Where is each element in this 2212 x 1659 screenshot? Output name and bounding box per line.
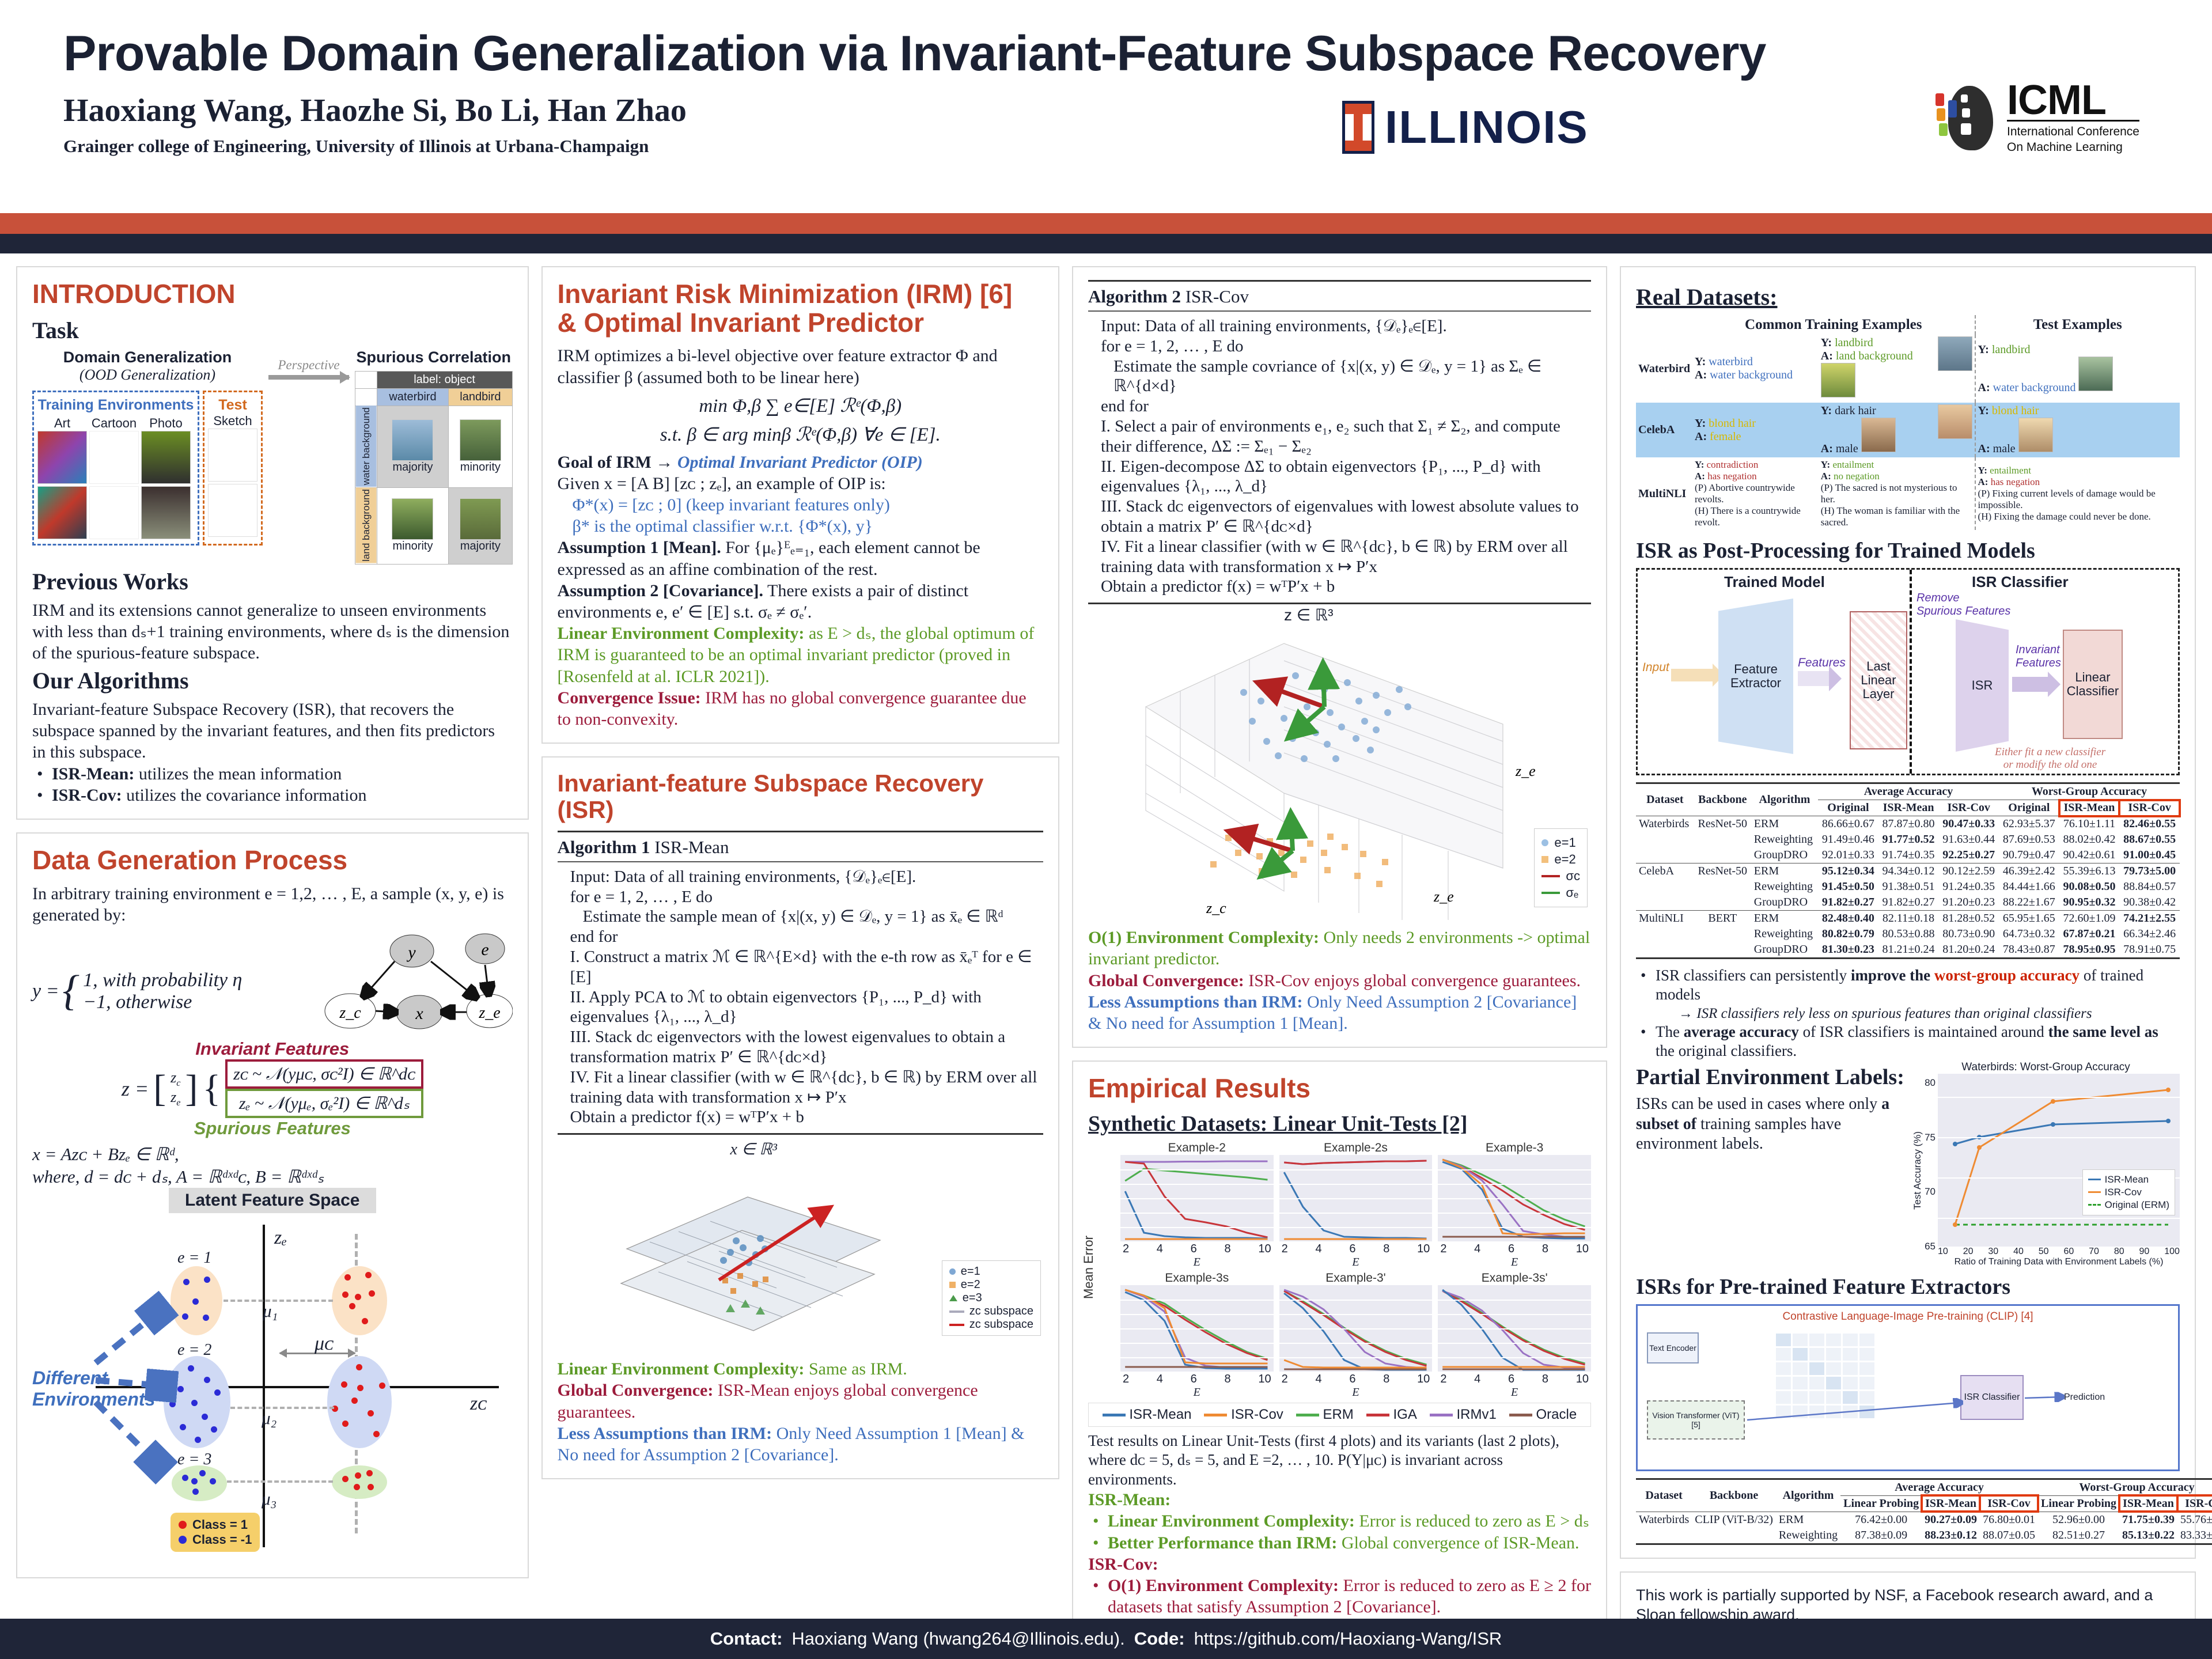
clip-th-dataset: Dataset [1636, 1479, 1692, 1512]
algo2-line-0: Input: Data of all training environments… [1088, 316, 1591, 336]
plot-example3sp [1438, 1285, 1591, 1372]
our-algorithms-text: Invariant-feature Subspace Recovery (ISR… [32, 699, 513, 763]
isr-mean-b2-bold: Better Performance than IRM: [1108, 1533, 1337, 1552]
table-row: Reweighting 91.49±0.46 91.77±0.52 91.63±… [1636, 832, 2180, 847]
pe-legend-isr-cov: ISR-Cov [2105, 1187, 2142, 1198]
invariant-features-label: Invariant Features [32, 1039, 513, 1059]
algo1-line-8: Obtain a predictor f(x) = wᵀP′x + b [558, 1107, 1043, 1127]
pe-legend-original: Original (ERM) [2105, 1199, 2169, 1211]
clip-cell-val: 88.07±0.05 [1980, 1528, 2038, 1544]
clip-th-mean-wg: ISR-Mean [2119, 1495, 2177, 1512]
isr-mean-bullets: Linear Environment Complexity: Error is … [1088, 1510, 1591, 1553]
spur-col-waterbird: waterbird [377, 388, 449, 406]
ood-generalization-label: (OOD Generalization) [32, 366, 263, 384]
orange-divider [0, 213, 2212, 234]
icml-subtitle-line1: International Conference [2007, 124, 2139, 139]
remove-spurious-label: Remove Spurious Features [1916, 592, 2010, 618]
algo1-line-7: IV. Fit a linear classifier (with w ∈ ℝ^… [558, 1067, 1043, 1108]
illinois-block-i-icon [1342, 101, 1374, 154]
cell-dataset: CelebA [1636, 863, 1694, 880]
unit-test-panel: Example-3' [1279, 1271, 1433, 1399]
clip-cell-val: 87.38±0.09 [1840, 1528, 1922, 1544]
cluster-e1-positive [332, 1266, 387, 1335]
features-arrow-icon [1798, 671, 1830, 686]
cell-val: 88.67±0.55 [2119, 832, 2180, 847]
navy-divider [0, 234, 2212, 253]
real-datasets-card: Real Datasets: Common Training Examples … [1620, 266, 2196, 1559]
cell-val: 91.77±0.52 [1878, 832, 1939, 847]
legend-irmv1: IRMv1 [1457, 1407, 1497, 1422]
list-item: ISR classifiers can persistently improve… [1636, 966, 2180, 1022]
legend-erm: ERM [1323, 1407, 1353, 1422]
empirical-heading: Empirical Results [1088, 1074, 1591, 1103]
column-1: INTRODUCTION Task Domain Generalization … [16, 266, 529, 1624]
pe-legend-isr-mean: ISR-Mean [2105, 1174, 2149, 1185]
partial-env-legend: ISR-Mean ISR-Cov Original (ERM) [2082, 1169, 2175, 1215]
algo2-line-2: Estimate the sample covriance of {x|(x, … [1088, 357, 1591, 397]
cell-val: 78.95±0.95 [2059, 942, 2120, 959]
cell-dataset: MultiNLI [1636, 911, 1694, 927]
cell-alg: GroupDRO [1751, 847, 1818, 863]
cell-alg: GroupDRO [1751, 895, 1818, 911]
post-processing-diagram: Trained Model ISR Classifier Input Featu… [1636, 568, 2180, 775]
cell-val: 91.38±0.51 [1878, 879, 1939, 895]
isr-cov-card: Algorithm 2 ISR-Cov Input: Data of all t… [1072, 266, 1607, 1048]
poster-footer: Contact: Haoxiang Wang (hwang264@Illinoi… [0, 1619, 2212, 1659]
algo2-label: Algorithm 2 [1088, 286, 1181, 306]
svg-text:y: y [406, 943, 416, 962]
illinois-logo: ILLINOIS [1342, 101, 1589, 154]
results-table: Dataset Backbone Algorithm Average Accur… [1636, 782, 2180, 959]
legend3d-sigma-c: σᴄ [1566, 869, 1580, 884]
dgp-heading: Data Generation Process [32, 846, 513, 875]
cell-dataset: Waterbirds [1636, 816, 1694, 832]
isr-heading: Invariant-feature Subspace Recovery (ISR… [558, 770, 1043, 823]
cell-val: 46.39±2.42 [1999, 863, 2059, 880]
author-list: Haoxiang Wang, Haozhe Si, Bo Li, Han Zha… [63, 92, 2166, 129]
unit-test-panel: Example-3s' [1438, 1271, 1591, 1399]
table-row: MultiNLI BERT ERM 82.48±0.40 82.11±0.18 … [1636, 911, 2180, 927]
clip-th-backbone: Backbone [1692, 1479, 1776, 1512]
clip-cell-val: 76.42±0.00 [1840, 1512, 1922, 1528]
thumbnail-cartoon-1 [89, 431, 139, 484]
table-row: Reweighting 87.38±0.09 88.23±0.12 88.07±… [1636, 1528, 2212, 1544]
content-grid: INTRODUCTION Task Domain Generalization … [0, 253, 2212, 1624]
dataset-name-waterbird: Waterbird [1636, 335, 1692, 403]
pe-ytick-75: 75 [1925, 1132, 1935, 1143]
clip-th-algorithm: Algorithm [1776, 1479, 1840, 1512]
list-item: The average accuracy of ISR classifiers … [1636, 1022, 2180, 1061]
xticks-example3: 246810 [1438, 1241, 1591, 1256]
algo1-line-1: for e = 1, 2, … , E do [558, 887, 1043, 907]
clip-cell-val: 88.23±0.12 [1922, 1528, 1980, 1544]
cell-val: 84.44±1.66 [1999, 879, 2059, 895]
perspective-arrow-icon [268, 375, 349, 380]
finding2-bold2: the same level as [2048, 1023, 2158, 1040]
axis-y-label: zₑ [274, 1227, 287, 1249]
spur-top-header: label: object [377, 371, 512, 388]
linear-classifier-box: Linear Classifier [2063, 630, 2123, 739]
isr-mean-b2-text: Global convergence of ISR-Mean. [1337, 1533, 1579, 1552]
icml-mark-icon [1935, 83, 1999, 152]
contact-label: Contact: [710, 1628, 783, 1649]
thumbnail-art-1 [37, 431, 87, 484]
irm-constraint: s.t. β ∈ arg minβ ℛᵉ(Φ,β) ∀e ∈ [E]. [558, 423, 1043, 446]
clip-cell-val: 71.75±0.39 [2119, 1512, 2177, 1528]
task-figure: Domain Generalization (OOD Generalizatio… [32, 349, 513, 565]
clip-th-lp-wg: Linear Probing [2038, 1495, 2119, 1512]
isr-lec-bold: Linear Environment Complexity: [558, 1359, 805, 1378]
y-case-2: −1, otherwise [83, 991, 242, 1013]
cell-val: 88.02±0.42 [2059, 832, 2120, 847]
isr-fig-label: x ∈ ℝ³ [730, 1139, 777, 1159]
cell-alg: ERM [1751, 911, 1818, 927]
bullet-bold-isr-cov: ISR-Cov: [52, 786, 122, 805]
algo2-name: ISR-Cov [1181, 286, 1249, 306]
spur-row-water: water background [355, 406, 377, 487]
poster-header: Provable Domain Generalization via Invar… [0, 0, 2212, 213]
th-wg-acc: Worst-Group Accuracy [1999, 783, 2180, 800]
our-algorithms-heading: Our Algorithms [32, 667, 513, 694]
algo1-line-4: I. Construct a matrix ℳ ∈ ℝ^{E×d} with t… [558, 947, 1043, 987]
isr-mean-legend: e=1 e=2 e=3 zᴄ subspace zᴄ subspace [942, 1260, 1041, 1336]
clip-cell-val: 85.13±0.22 [2119, 1528, 2177, 1544]
th-orig-wg: Original [1999, 800, 2059, 816]
dgp-intro: In arbitrary training environment e = 1,… [32, 883, 513, 926]
th-algorithm: Algorithm [1751, 783, 1818, 816]
panel-title-example3: Example-3 [1438, 1141, 1591, 1155]
lec-bold: Linear Environment Complexity: [558, 624, 805, 643]
ze-equation: zₑ ~ 𝒩(yμₑ, σₑ²I) ∈ ℝ^dₛ [225, 1089, 423, 1118]
list-item: O(1) Environment Complexity: Error is re… [1088, 1575, 1591, 1618]
table-row: Reweighting 91.45±0.50 91.38±0.51 91.24±… [1636, 879, 2180, 895]
cell-val: 90.79±0.47 [1999, 847, 2059, 863]
legend-isr-mean: ISR-Mean [1129, 1407, 1191, 1422]
partial-env-xlabel: Ratio of Training Data with Environment … [1938, 1257, 2180, 1267]
cell-val: 90.38±0.42 [2119, 895, 2180, 911]
column-4: Real Datasets: Common Training Examples … [1620, 266, 2196, 1624]
multinli-train2-p: (P) The sacred is not mysterious to her. [1821, 482, 1972, 505]
env-label-1: e = 1 [177, 1249, 211, 1267]
code-label: Code: [1134, 1628, 1185, 1649]
spurious-features-label: Spurious Features [32, 1118, 513, 1139]
perspective-label: Perspective [268, 358, 349, 373]
irm-card: Invariant Risk Minimization (IRM) [6] & … [541, 266, 1059, 744]
partial-text-pre: ISRs can be used in cases where only [1636, 1095, 1881, 1113]
findings-list: ISR classifiers can persistently improve… [1636, 966, 2180, 1061]
algorithm-1-box: Algorithm 1 ISR-Mean Input: Data of all … [558, 831, 1043, 1135]
mu-label-3: μ₃ [262, 1488, 276, 1509]
bullet-text-isr-cov: utilizes the covariance information [122, 786, 367, 805]
thumbnail-art-2 [37, 486, 87, 539]
xlabel-example3: E [1438, 1256, 1591, 1269]
svg-text:x: x [415, 1004, 423, 1023]
list-item: ISR-Cov: utilizes the covariance informa… [32, 785, 513, 806]
last-linear-layer-box: Last Linear Layer [1850, 611, 1907, 749]
partial-env-chart-title: Waterbirds: Worst-Group Accuracy [1912, 1061, 2180, 1074]
thumbnail-sketch-2 [208, 484, 257, 537]
irm-oip-2: β* is the optimal classifier w.r.t. {Φ*(… [558, 516, 1043, 537]
pe-ytick-70: 70 [1925, 1186, 1935, 1198]
icml-subtitle-line2: On Machine Learning [2007, 140, 2139, 155]
spur-cell-0-1: minority [449, 406, 512, 487]
cell-val: 82.48±0.40 [1818, 911, 1878, 927]
algo1-label: Algorithm 1 [558, 837, 650, 857]
previous-works-text: IRM and its extensions cannot generalize… [32, 600, 513, 664]
multinli-train1-h: (H) There is a countrywide revolt. [1695, 505, 1816, 528]
clip-th-lp-avg: Linear Probing [1840, 1495, 1922, 1512]
table-row: GroupDRO 92.01±0.33 91.74±0.35 92.25±0.2… [1636, 847, 2180, 863]
cell-val: 90.12±2.59 [1938, 863, 1999, 880]
cell-val: 91.82±0.27 [1878, 895, 1939, 911]
cell-val: 95.12±0.34 [1818, 863, 1878, 880]
dataset-name-celeba: CelebA [1636, 403, 1692, 457]
partial-env-plot: ISR-Mean ISR-Cov Original (ERM) [1938, 1074, 2180, 1247]
legend-zc-subspace-plane: zᴄ subspace [969, 1305, 1033, 1318]
legend-oracle: Oracle [1536, 1407, 1577, 1422]
clip-cell-backbone: CLIP (ViT-B/32) [1692, 1512, 1776, 1528]
unit-test-ylabel: Mean Error [1081, 1236, 1096, 1299]
thumbnail-cartoon-2 [89, 486, 139, 539]
training-environments-box: Training Environments Art Cartoon Photo [32, 391, 199, 546]
algo2-line-8: Obtain a predictor f(x) = wᵀP′x + b [1088, 577, 1591, 597]
cell-alg: Reweighting [1751, 926, 1818, 942]
finding1-red: worst-group accuracy [1934, 967, 2080, 984]
feature-extractor-box: Feature Extractor [1718, 599, 1793, 754]
clip-th-avg: Average Accuracy [1840, 1479, 2038, 1495]
cell-val: 90.95±0.32 [2059, 895, 2120, 911]
poster-root: Provable Domain Generalization via Invar… [0, 0, 2212, 1659]
legend-e3: e=3 [963, 1291, 982, 1305]
cell-val: 87.87±0.80 [1878, 816, 1939, 832]
domain-label-sketch: Sketch [208, 414, 257, 429]
cell-val: 78.91±0.75 [2119, 942, 2180, 959]
column-3: Algorithm 2 ISR-Cov Input: Data of all t… [1072, 266, 1607, 1624]
xticks-example2s: 246810 [1279, 1241, 1433, 1256]
svg-text:z_c: z_c [1206, 900, 1226, 916]
mu3-guide [227, 1480, 333, 1483]
clip-th-cov-wg: ISR-Cov [2177, 1495, 2212, 1512]
cell-val: 80.82±0.79 [1818, 926, 1878, 942]
cell-val: 90.47±0.33 [1938, 816, 1999, 832]
empirical-results-card: Empirical Results Synthetic Datasets: Li… [1072, 1060, 1607, 1631]
clip-cell-val: 76.80±0.01 [1980, 1512, 2038, 1528]
plot-example3p [1279, 1285, 1433, 1372]
pe-ytick-65: 65 [1925, 1241, 1935, 1252]
code-url[interactable]: https://github.com/Haoxiang-Wang/ISR [1194, 1628, 1502, 1649]
clip-cell-val: 83.33±0.00 [2177, 1528, 2212, 1544]
classifier-note: Either fit a new classifier or modify th… [1995, 746, 2105, 771]
mu-label-1: μ₁ [263, 1301, 278, 1321]
common-training-header: Common Training Examples [1692, 315, 1975, 335]
latent-feature-space-figure: zₑ zᴄ e = 1 [32, 1213, 513, 1565]
isr-mean-head: ISR-Mean: [1088, 1490, 1171, 1509]
spur-cell-0-0: majority [377, 406, 449, 487]
irm-given: Given x = [A B] [zᴄ ; zₑ], an example of… [558, 473, 1043, 494]
list-item: Linear Environment Complexity: Error is … [1088, 1510, 1591, 1532]
partial-env-heading: Partial Environment Labels: [1636, 1065, 1906, 1090]
cell-val: 80.53±0.88 [1878, 926, 1939, 942]
clip-cell-val: 55.76±0.00 [2177, 1512, 2212, 1528]
cell-val: 80.73±0.90 [1938, 926, 1999, 942]
legend-iga: IGA [1393, 1407, 1416, 1422]
pe-ytick-80: 80 [1925, 1077, 1935, 1089]
cell-val: 92.01±0.33 [1818, 847, 1878, 863]
legend-zc-subspace-line: zᴄ subspace [969, 1318, 1033, 1331]
thumbnail-sketch-1 [208, 429, 257, 482]
xlabel-example3p: E [1279, 1386, 1433, 1399]
table-row: MultiNLI Y: contradictionA: has negation… [1636, 457, 2180, 530]
finding1-sub: → ISR classifiers rely less on spurious … [1656, 1005, 2180, 1022]
irm-heading-line2: & Optimal Invariant Predictor [558, 308, 924, 338]
isr-cov-3d-scatter: z ∈ ℝ³ [1088, 604, 1591, 927]
mu1-guide [224, 1300, 333, 1302]
cell-val: 81.28±0.52 [1938, 911, 1999, 927]
isrcov-gc-text: ISR-Cov enjoys global convergence guaran… [1244, 971, 1581, 990]
algo1-line-6: III. Stack dᴄ eigenvectors with the lowe… [558, 1027, 1043, 1067]
th-backbone: Backbone [1694, 783, 1751, 816]
cell-val: 82.11±0.18 [1878, 911, 1939, 927]
real-datasets-heading: Real Datasets: [1636, 283, 2180, 310]
cell-val: 91.24±0.35 [1938, 879, 1999, 895]
cell-val: 92.25±0.27 [1938, 847, 1999, 863]
assumption2-bold: Assumption 2 [Covariance]. [558, 581, 764, 600]
xticks-example3s: 246810 [1120, 1372, 1274, 1386]
isr-mean-b1-bold: Linear Environment Complexity: [1108, 1512, 1355, 1531]
table-row: GroupDRO 91.82±0.27 91.82±0.27 91.20±0.2… [1636, 895, 2180, 911]
latent-feature-space-title: Latent Feature Space [169, 1188, 376, 1213]
domain-label-cartoon: Cartoon [89, 416, 139, 431]
panel-title-example2: Example-2 [1120, 1141, 1274, 1155]
plot-example3s [1120, 1285, 1274, 1372]
th-isrcov-wg: ISR-Cov [2119, 800, 2180, 816]
trained-model-label: Trained Model [1724, 573, 1825, 591]
isr-card: Invariant-feature Subspace Recovery (ISR… [541, 756, 1059, 1479]
th-dataset: Dataset [1636, 783, 1694, 816]
svg-text:z_e: z_e [1515, 763, 1536, 779]
multinli-test-h: (H) Fixing the damage could never be don… [1978, 511, 2177, 522]
svg-text:z_e: z_e [478, 1004, 500, 1022]
unit-test-panel: Example-3 [1438, 1141, 1591, 1269]
algorithm-2-box: Algorithm 2 ISR-Cov Input: Data of all t… [1088, 280, 1591, 604]
legend3d-sigma-e: σₑ [1566, 885, 1578, 900]
irm-oip-1: Φ*(x) = [zᴄ ; 0] (keep invariant feature… [558, 494, 1043, 516]
zc-equation: zᴄ ~ 𝒩(yμᴄ, σᴄ²I) ∈ ℝ^dᴄ [225, 1059, 423, 1089]
th-orig-avg: Original [1818, 800, 1878, 816]
clip-cell-val: 90.27±0.09 [1922, 1512, 1980, 1528]
cell-val: 62.93±5.37 [1999, 816, 2059, 832]
plot-example2s [1279, 1155, 1433, 1241]
mu-c-label: μᴄ [315, 1333, 333, 1355]
table-row: Waterbirds CLIP (ViT-B/32) ERM 76.42±0.0… [1636, 1512, 2212, 1528]
cell-val: 90.08±0.50 [2059, 879, 2120, 895]
table-row: CelebA ResNet-50 ERM 95.12±0.34 94.34±0.… [1636, 863, 2180, 880]
unit-test-legend: ISR-Mean ISR-Cov ERM IGA IRMv1 Oracle [1088, 1403, 1591, 1427]
clip-th-cov-avg: ISR-Cov [1980, 1495, 2038, 1512]
algo2-line-5: II. Eigen-decompose ΔΣ to obtain eigenve… [1088, 457, 1591, 497]
cell-alg: ERM [1751, 863, 1818, 880]
data-generation-card: Data Generation Process In arbitrary tra… [16, 832, 529, 1578]
training-environments-label: Training Environments [37, 397, 194, 414]
convergence-bold: Convergence Issue: [558, 688, 701, 707]
cell-val: 81.20±0.24 [1938, 942, 1999, 959]
dataset-name-multinli: MultiNLI [1636, 457, 1692, 530]
list-item: Better Performance than IRM: Global conv… [1088, 1532, 1591, 1554]
isr-cov-b1-bold: O(1) Environment Complexity: [1108, 1576, 1339, 1595]
task-heading: Task [32, 317, 513, 344]
table-row: Reweighting 80.82±0.79 80.53±0.88 80.73±… [1636, 926, 2180, 942]
cell-backbone: BERT [1694, 911, 1751, 927]
mu2-guide [230, 1407, 334, 1409]
algo1-line-5: II. Apply PCA to ℳ to obtain eigenvector… [558, 987, 1043, 1028]
legend-e2: e=2 [961, 1278, 980, 1291]
synthetic-heading: Synthetic Datasets: Linear Unit-Tests [2… [1088, 1111, 1591, 1137]
th-isrmean-wg: ISR-Mean [2059, 800, 2120, 816]
xlabel-example2s: E [1279, 1256, 1433, 1269]
isr-lec-text: Same as IRM. [804, 1359, 907, 1378]
where-equation: where, d = dᴄ + dₛ, A = ℝᵈˣᵈᴄ, B = ℝᵈˣᵈₛ [32, 1166, 513, 1188]
cell-val: 81.21±0.24 [1878, 942, 1939, 959]
y-case-1: 1, with probability η [83, 969, 242, 991]
invariant-arrow-icon [2012, 677, 2049, 692]
unit-test-plot-grid: Example-2 [1120, 1141, 1591, 1399]
cell-val: 91.63±0.44 [1938, 832, 1999, 847]
isrcov-la-bold: Less Assumptions than IRM: [1088, 993, 1303, 1012]
domain-label-art: Art [37, 416, 87, 431]
th-isrcov-avg: ISR-Cov [1938, 800, 1999, 816]
isr-box: ISR [1956, 619, 2009, 752]
isr-la-bold: Less Assumptions than IRM: [558, 1424, 772, 1443]
icml-logo-text: ICML [2007, 81, 2139, 120]
unit-test-panel: Example-2s [1279, 1141, 1433, 1269]
cell-val: 66.34±2.46 [2119, 926, 2180, 942]
legend-class-neg1: Class = -1 [192, 1532, 252, 1547]
legend-class-1: Class = 1 [192, 1517, 248, 1532]
finding2-mid: of ISR classifiers is maintained around [1799, 1023, 2048, 1040]
cell-val: 67.87±0.21 [2059, 926, 2120, 942]
cell-val: 91.74±0.35 [1878, 847, 1939, 863]
cell-val: 82.46±0.55 [2119, 816, 2180, 832]
cell-val: 91.82±0.27 [1818, 895, 1878, 911]
isr-classifier-label: ISR Classifier [1972, 573, 2069, 591]
table-row: Waterbirds ResNet-50 ERM 86.66±0.67 87.8… [1636, 816, 2180, 832]
svg-text:z_e: z_e [1433, 888, 1454, 905]
multinli-train1-p: (P) Abortive countrywide revolts. [1695, 482, 1816, 505]
xlabel-example3s: E [1120, 1386, 1274, 1399]
irm-heading: Invariant Risk Minimization (IRM) [6] & … [558, 280, 1043, 337]
irm-goal-prefix: Goal of IRM → [558, 453, 677, 472]
unit-test-panel: Example-3s [1120, 1271, 1274, 1399]
post-processing-heading: ISR as Post-Processing for Trained Model… [1636, 538, 2180, 563]
plot-example3 [1438, 1155, 1591, 1241]
icml-logo: ICML International Conference On Machine… [1935, 81, 2139, 155]
cell-val: 90.42±0.61 [2059, 847, 2120, 863]
x-equation: x = Azᴄ + Bzₑ ∈ ℝᵈ, [32, 1143, 513, 1165]
legend-e1: e=1 [961, 1265, 980, 1278]
isr-cov-head: ISR-Cov: [1088, 1555, 1158, 1574]
clip-cell-val: 52.96±0.00 [2038, 1512, 2119, 1528]
affiliation: Grainger college of Engineering, Univers… [63, 136, 2166, 157]
test-label: Test [208, 397, 257, 414]
xticks-example3p: 246810 [1279, 1372, 1433, 1386]
algo2-line-7: IV. Fit a linear classifier (with w ∈ ℝ^… [1088, 537, 1591, 577]
clip-diagram: Contrastive Language-Image Pre-training … [1636, 1304, 2180, 1471]
cell-val: 72.60±1.09 [2059, 911, 2120, 927]
bullet-bold-isr-mean: ISR-Mean: [52, 764, 134, 783]
cell-val: 91.20±0.23 [1938, 895, 1999, 911]
previous-works-heading: Previous Works [32, 568, 513, 595]
cell-val: 76.10±1.11 [2059, 816, 2120, 832]
